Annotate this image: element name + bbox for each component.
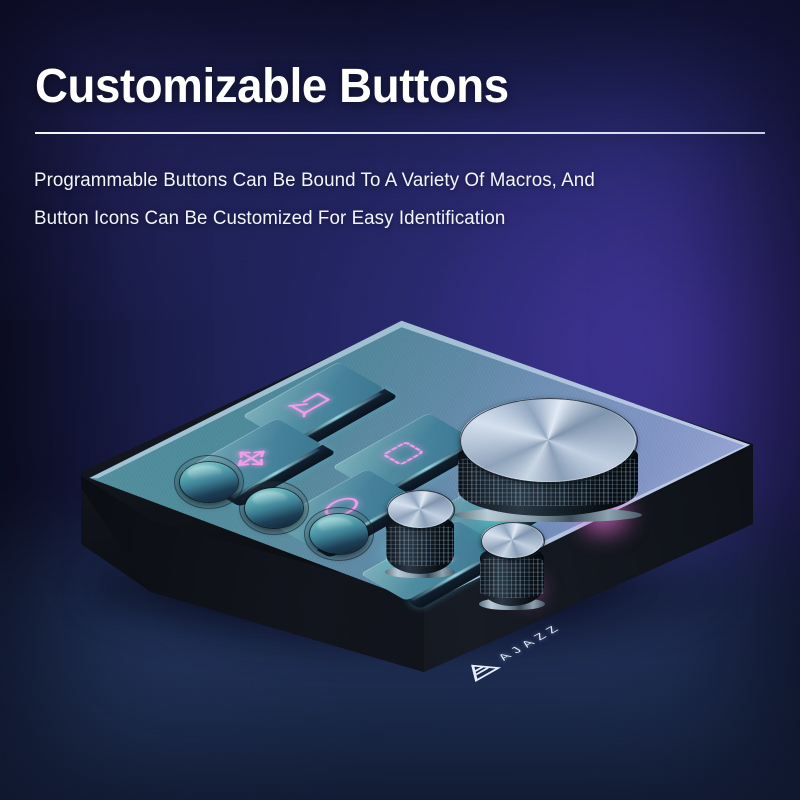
knob-small-2-top-rim xyxy=(481,522,545,560)
subtitle-line-1: Programmable Buttons Can Be Bound To A V… xyxy=(34,162,743,200)
round-button-2[interactable] xyxy=(245,488,303,528)
subtitle: Programmable Buttons Can Be Bound To A V… xyxy=(34,162,754,238)
knob-small-1-top-rim xyxy=(387,490,455,530)
knob-small-1-knurling xyxy=(386,524,454,566)
round-button-3[interactable] xyxy=(310,514,368,554)
knob-small-2-knurling xyxy=(480,556,544,598)
knob-small-2[interactable] xyxy=(480,522,544,630)
round-button-1[interactable] xyxy=(180,462,238,502)
knob-large-top-rim xyxy=(460,398,638,484)
title-divider xyxy=(35,132,765,134)
macropad-device: AJAZZ xyxy=(60,300,760,700)
subtitle-line-2: Button Icons Can Be Customized For Easy … xyxy=(34,200,743,238)
knob-small-1[interactable] xyxy=(386,488,454,598)
page-title: Customizable Buttons xyxy=(35,58,509,116)
promo-banner: Customizable Buttons Programmable Button… xyxy=(0,0,800,800)
